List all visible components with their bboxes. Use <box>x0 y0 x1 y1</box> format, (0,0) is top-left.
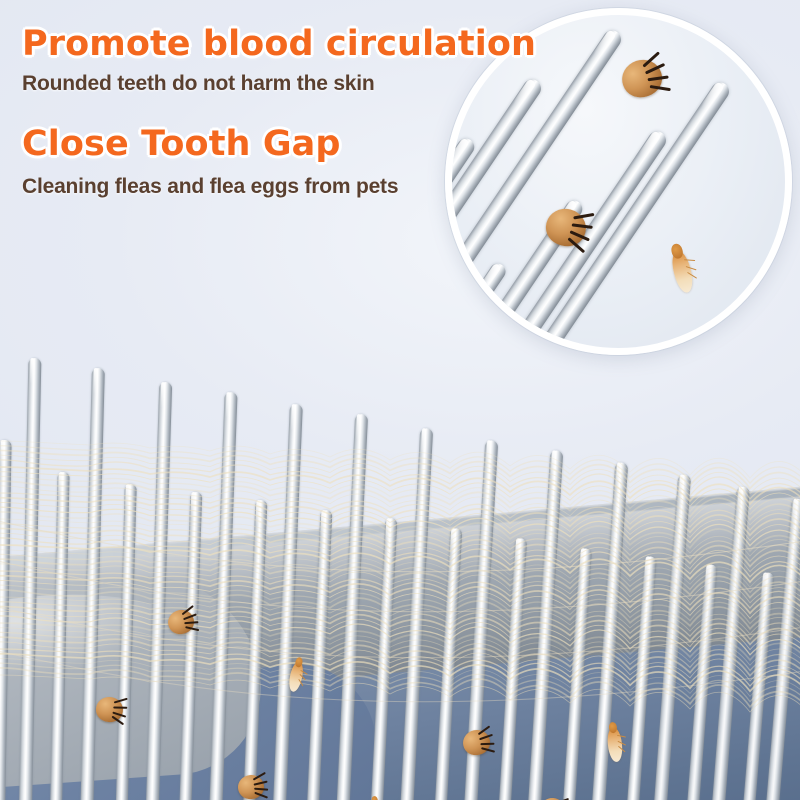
comb-tooth <box>552 548 592 800</box>
magnified-detail-content <box>452 15 785 348</box>
comb-tooth <box>363 518 398 800</box>
comb-tooth <box>518 450 564 800</box>
tick-2 <box>94 695 124 723</box>
comb-tooth <box>392 428 433 800</box>
loupe-flea-1 <box>669 250 695 295</box>
comb-tooth <box>237 500 268 800</box>
comb-tooth <box>615 556 657 800</box>
comb-tooth <box>111 484 137 800</box>
tick-3 <box>237 774 265 800</box>
comb-tooth <box>76 368 105 800</box>
heading-close-tooth-gap: Close Tooth Gap <box>22 124 341 164</box>
comb-tooth <box>203 392 237 800</box>
subtitle-rounded-teeth: Rounded teeth do not harm the skin <box>22 72 375 96</box>
comb-tooth <box>329 414 368 800</box>
tick-leg <box>113 706 127 708</box>
comb-tooth <box>174 492 203 800</box>
product-image-canvas: Promote blood circulation Rounded teeth … <box>0 0 800 800</box>
tick-leg <box>480 742 494 745</box>
comb-tooth <box>300 510 333 800</box>
comb-tooth <box>46 472 69 800</box>
subtitle-cleaning-fleas: Cleaning fleas and flea eggs from pets <box>22 175 398 199</box>
comb-tooth <box>141 382 172 800</box>
comb-tooth <box>489 538 527 800</box>
heading-promote-blood-circulation: Promote blood circulation <box>22 24 536 64</box>
comb-tooth <box>0 440 12 800</box>
comb-tooth <box>16 358 42 800</box>
comb-tooth <box>266 404 303 800</box>
loupe-tick-1 <box>617 55 666 102</box>
comb-tooth <box>426 528 463 800</box>
